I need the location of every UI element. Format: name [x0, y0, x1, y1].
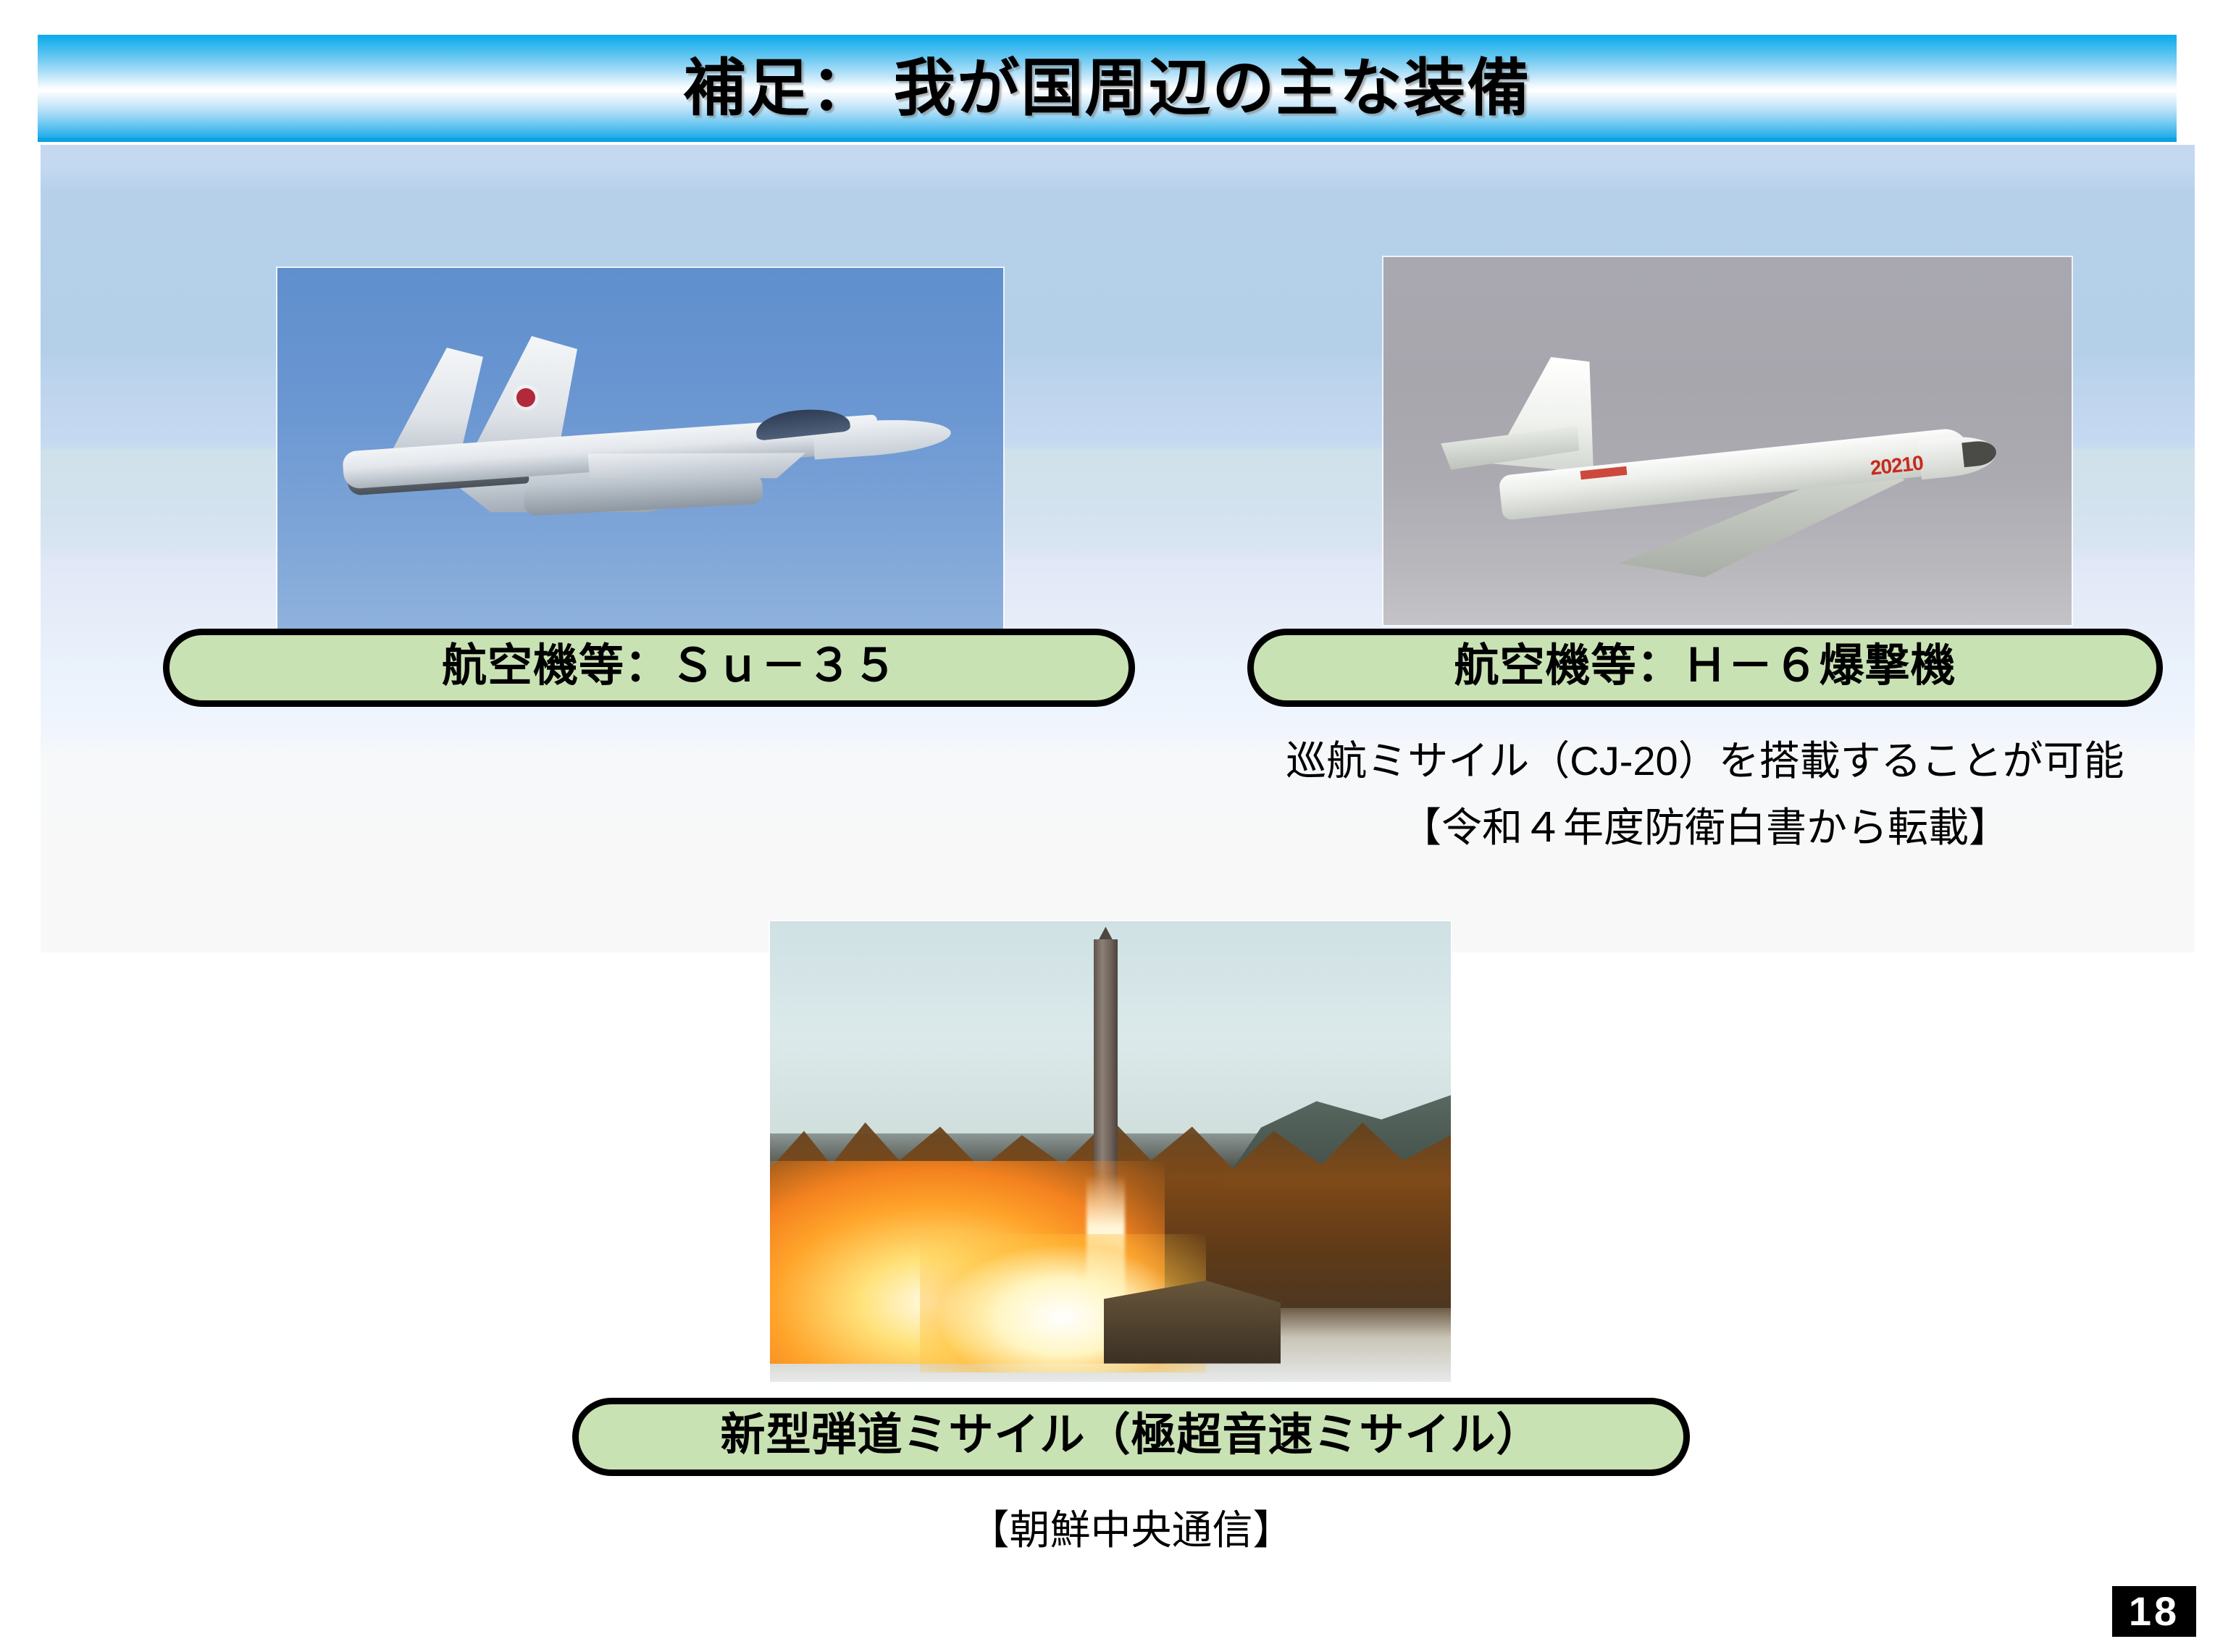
page-title: 補足： 我が国周辺の主な装備: [38, 35, 2177, 142]
h6-nose-glazing: [1961, 440, 1997, 468]
page-number-badge: 18: [2112, 1586, 2196, 1637]
photo-missile-launch: [770, 921, 1451, 1382]
title-banner: 補足： 我が国周辺の主な装備: [38, 35, 2177, 142]
caption-h6-payload: 巡航ミサイル（CJ-20）を搭載することが可能: [1247, 729, 2163, 787]
photo-su35: [277, 268, 1003, 630]
caption-missile-source: 【朝鮮中央通信】: [572, 1498, 1690, 1556]
label-pill-h6: 航空機等：Ｈ－６爆撃機: [1247, 629, 2163, 707]
label-text-missile: 新型弾道ミサイル（極超音速ミサイル）: [720, 1413, 1541, 1461]
slide-root: 補足： 我が国周辺の主な装備 20210: [0, 0, 2215, 1652]
label-text-su35: 航空機等：Ｓｕ－３５: [400, 644, 898, 692]
photo-h6-bomber: 20210: [1383, 257, 2072, 625]
page-number-text: 18: [2129, 1591, 2180, 1632]
su35-roundel-marking: [516, 388, 535, 407]
label-pill-missile: 新型弾道ミサイル（極超音速ミサイル）: [572, 1398, 1690, 1476]
caption-h6-source: 【令和４年度防衛白書から転載】: [1247, 795, 2163, 854]
label-text-h6: 航空機等：Ｈ－６爆撃機: [1454, 644, 1956, 692]
label-pill-su35: 航空機等：Ｓｕ－３５: [163, 629, 1135, 707]
